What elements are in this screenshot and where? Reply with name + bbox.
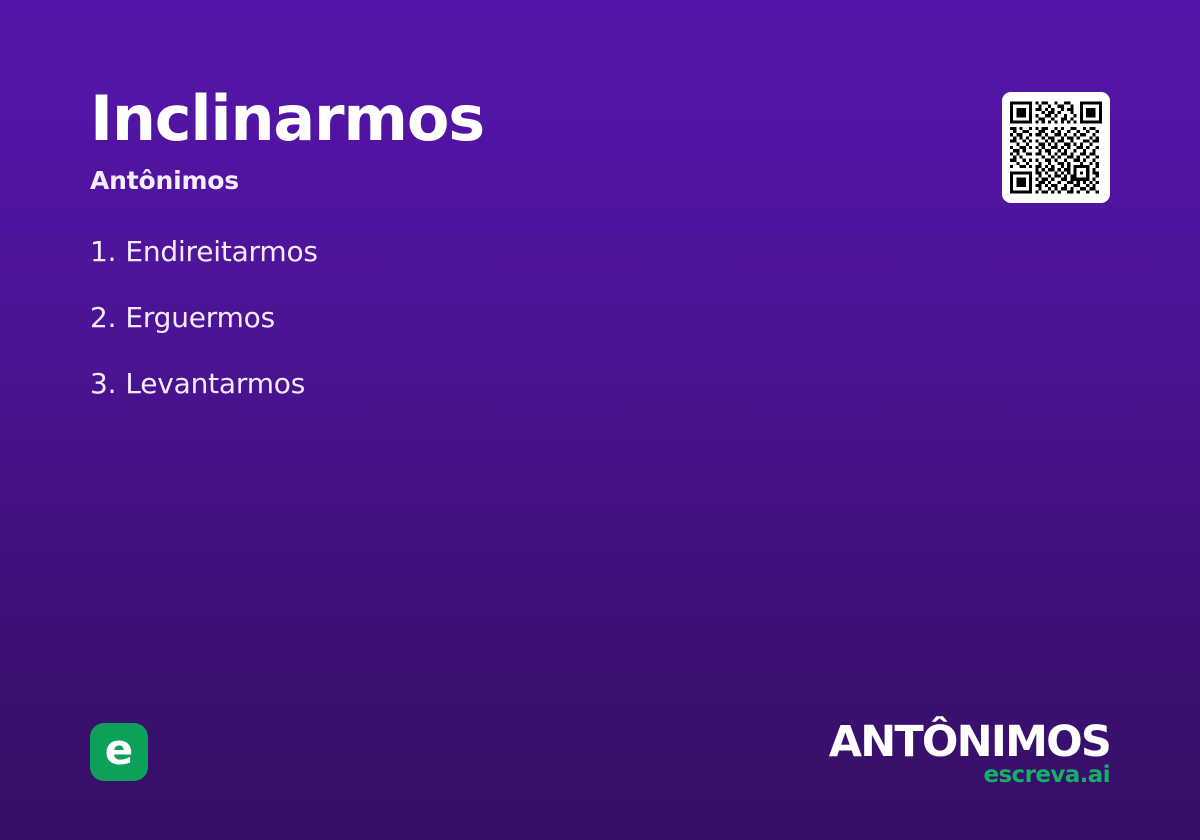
header: Inclinarmos Antônimos bbox=[90, 88, 910, 195]
qr-code-panel[interactable] bbox=[1002, 92, 1110, 203]
list-item: 1. Endireitarmos bbox=[90, 238, 910, 304]
page-subtitle: Antônimos bbox=[90, 167, 910, 195]
list-item: 2. Erguermos bbox=[90, 304, 910, 370]
wordmark-title: ANTÔNIMOS bbox=[829, 722, 1110, 763]
list-item-word: Erguermos bbox=[125, 304, 275, 332]
list-item-index: 1. bbox=[90, 238, 116, 266]
antonym-list: 1. Endireitarmos 2. Erguermos 3. Levanta… bbox=[90, 238, 910, 436]
list-item-index: 2. bbox=[90, 304, 116, 332]
list-item-index: 3. bbox=[90, 370, 116, 398]
list-item: 3. Levantarmos bbox=[90, 370, 910, 436]
list-item-word: Levantarmos bbox=[125, 370, 305, 398]
wordmark-domain: escreva.ai bbox=[829, 764, 1110, 787]
escreva-e-badge-icon[interactable]: e bbox=[90, 723, 148, 781]
page-title: Inclinarmos bbox=[90, 88, 910, 150]
antonyms-card: Inclinarmos Antônimos 1. Endireitarmos 2… bbox=[0, 0, 1200, 840]
brand-badge-letter: e bbox=[105, 729, 134, 771]
brand-wordmark: ANTÔNIMOS escreva.ai bbox=[829, 722, 1110, 787]
list-item-word: Endireitarmos bbox=[125, 238, 317, 266]
qr-code-icon bbox=[1010, 100, 1102, 195]
